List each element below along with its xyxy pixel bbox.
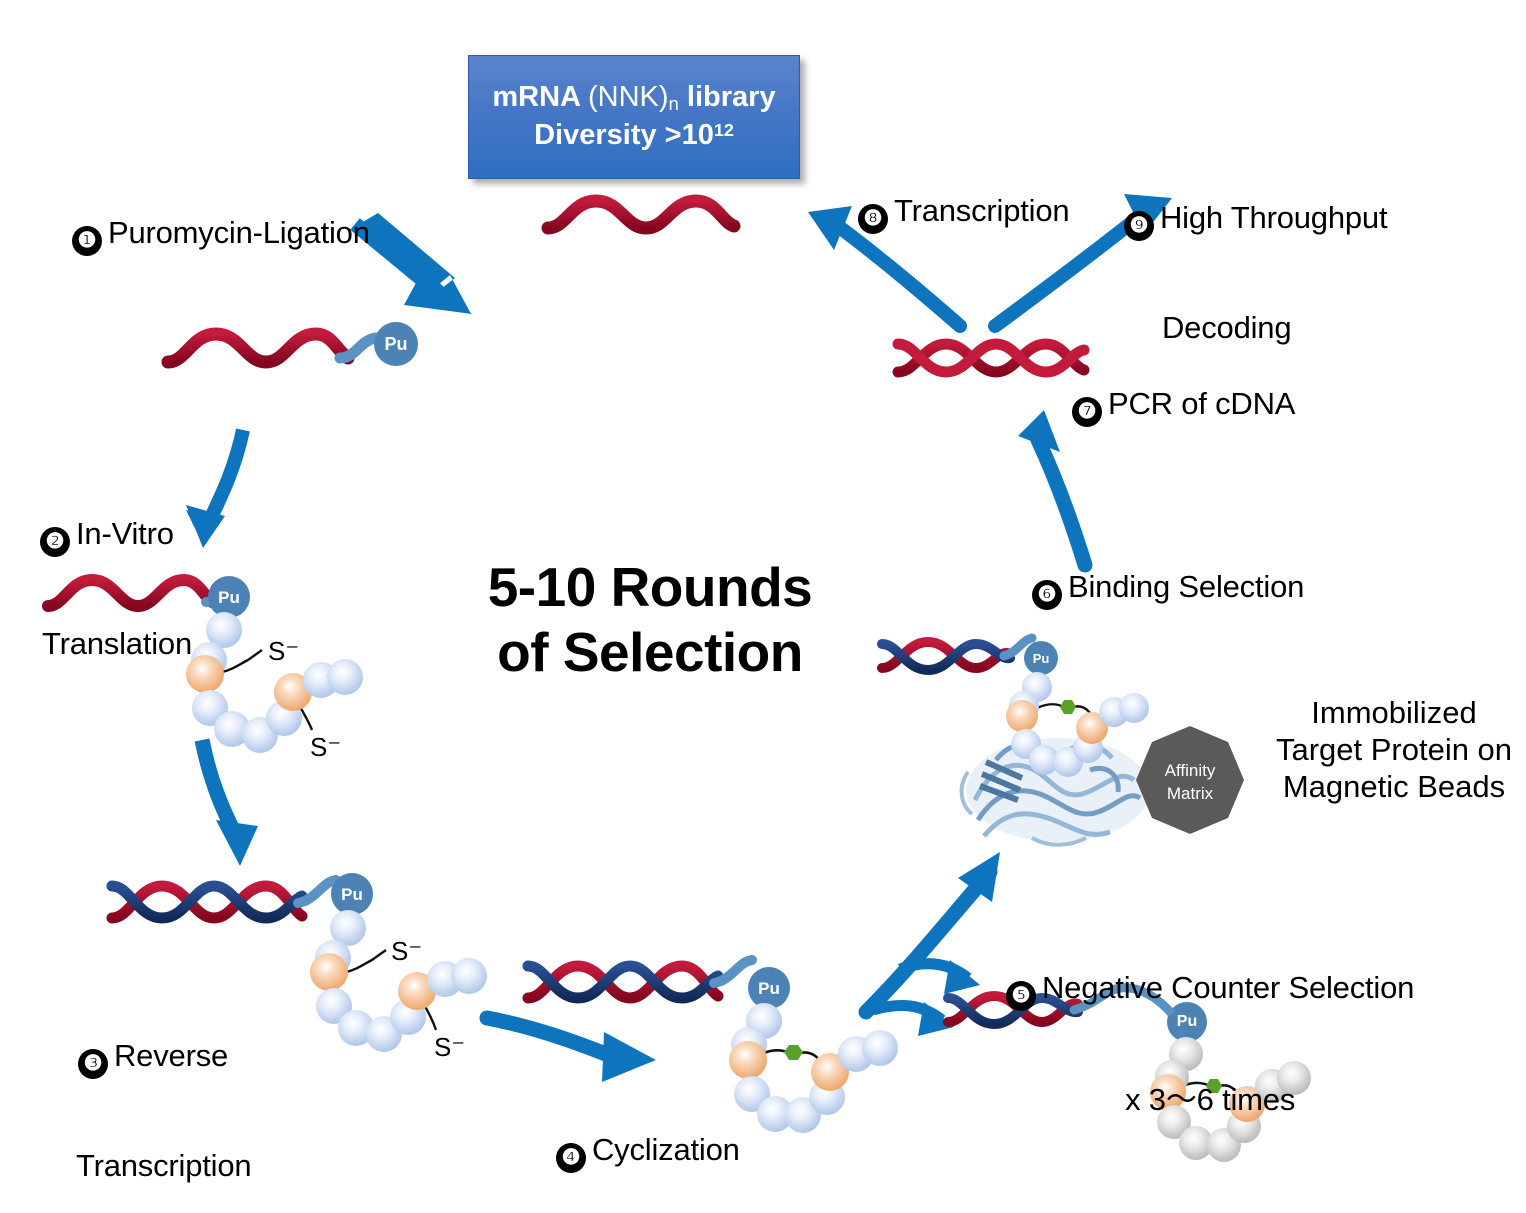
arrow-step1 (355, 213, 472, 314)
mrna-library-box: mRNA (NNK)n library Diversity >1012 (468, 55, 800, 179)
step-5-number: ❺ (1006, 981, 1036, 1011)
step-9-text-line1: High Throughput (1160, 200, 1387, 235)
step-2-label: ❷In-Vitro Translation (40, 448, 192, 731)
thiol-label-step3-a: S⁻ (391, 936, 422, 967)
arrow-step6 (1018, 410, 1085, 565)
step-3-number: ❸ (78, 1049, 108, 1079)
immobilized-target-note: Immobilized Target Protein on Magnetic B… (1258, 694, 1526, 806)
step-2-text-line2: Translation (42, 627, 192, 662)
immobilized-note-line-1: Immobilized (1258, 694, 1526, 731)
mrna-strand-top (548, 201, 734, 228)
step-3-text-line2: Transcription (76, 1149, 251, 1184)
center-title-line-2: of Selection (430, 620, 870, 685)
step-3-label: ❸Reverse Transcription (78, 970, 251, 1213)
arrow-step2 (186, 430, 245, 548)
step-9-number: ❾ (1124, 211, 1154, 241)
step-1-number: ❶ (72, 226, 102, 256)
step-5-text-line1: Negative Counter Selection (1042, 970, 1414, 1005)
step-2-text-line1: In-Vitro (76, 516, 174, 551)
arrow-step3 (202, 740, 258, 866)
step-8-number: ❽ (858, 204, 888, 234)
pcr-dsdna-product (898, 344, 1084, 372)
step-4-label: ❹Cyclization (556, 1133, 740, 1173)
immobilized-note-line-3: Magnetic Beads (1258, 768, 1526, 805)
library-line-1: mRNA (NNK)n library (492, 79, 775, 117)
arrow-step5-multi (866, 852, 1000, 1036)
thiol-label-step2-a: S⁻ (268, 636, 299, 667)
step-1-label: ❶Puromycin-Ligation (72, 216, 370, 256)
step-6-text: Binding Selection (1068, 569, 1304, 604)
target-binding-complex (882, 638, 1244, 845)
figure-canvas: mRNA (NNK)n library Diversity >1012 5-10… (0, 0, 1526, 1213)
step-5-label: ❺Negative Counter Selection x 3～6 times (1006, 902, 1414, 1187)
step-8-label: ❽Transcription (858, 194, 1069, 234)
arrow-step4 (487, 1018, 656, 1082)
step-2-number: ❷ (40, 527, 70, 557)
immobilized-note-line-2: Target Protein on (1258, 731, 1526, 768)
thiol-label-step2-b: S⁻ (310, 732, 341, 763)
step-5-text-line2: x 3～6 times (1006, 1083, 1414, 1118)
step-9-label: ❾High Throughput Decoding (1124, 132, 1387, 415)
thiol-label-step3-b: S⁻ (434, 1032, 465, 1063)
library-line-2: Diversity >1012 (534, 117, 734, 155)
step-7-number: ❼ (1072, 397, 1102, 427)
step-6-number: ❻ (1032, 580, 1062, 610)
mrna-puromycin-conjugate (168, 322, 418, 366)
step-8-text: Transcription (894, 193, 1069, 228)
step-6-label: ❻Binding Selection (1032, 570, 1304, 610)
step-4-text: Cyclization (592, 1132, 740, 1167)
center-title: 5-10 Rounds of Selection (430, 555, 870, 685)
center-title-line-1: 5-10 Rounds (430, 555, 870, 620)
affinity-matrix-octagon (1136, 726, 1244, 834)
step-3-text-line1: Reverse (114, 1038, 228, 1073)
step-9-text-line2: Decoding (1162, 311, 1387, 346)
step-1-text: Puromycin-Ligation (108, 215, 370, 250)
step-4-number: ❹ (556, 1143, 586, 1173)
